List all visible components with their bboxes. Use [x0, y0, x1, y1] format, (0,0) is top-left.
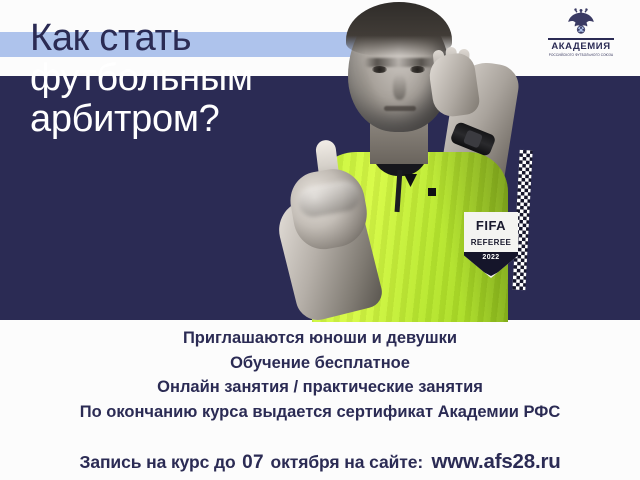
body-copy: Приглашаются юноши и девушки Обучение бе…	[0, 326, 640, 424]
body-line-2: Обучение бесплатное	[0, 351, 640, 376]
academy-logo: АКАДЕМИЯ РОССИЙСКОГО ФУТБОЛЬНОГО СОЮЗА	[539, 6, 623, 57]
body-line-1: Приглашаются юноши и девушки	[0, 326, 640, 351]
logo-subtitle: РОССИЙСКОГО ФУТБОЛЬНОГО СОЮЗА	[539, 53, 623, 57]
footer-prefix: Запись на курс до	[79, 452, 235, 472]
headline: Как стать футбольным арбитром?	[30, 18, 460, 139]
footer-website-url[interactable]: www.afs28.ru	[428, 450, 561, 473]
logo-name: АКАДЕМИЯ	[539, 42, 623, 52]
body-line-3: Онлайн занятия / практические занятия	[0, 375, 640, 400]
logo-divider	[548, 38, 614, 40]
footer-deadline-day: 07	[240, 452, 266, 473]
double-headed-eagle-icon	[564, 6, 598, 36]
poster-root: FIFA REFEREE 2022 Как стать футбольным а…	[0, 0, 640, 480]
headline-line-2: футбольным	[30, 58, 460, 98]
footer-middle: октября на сайте:	[270, 452, 423, 472]
fifa-badge-role: REFEREE	[471, 239, 512, 247]
headline-line-3: арбитром?	[30, 99, 460, 139]
fifa-badge-title: FIFA	[476, 219, 506, 232]
referee-chest-mark-b	[428, 188, 436, 196]
footer: Запись на курс до 07 октября на сайте: w…	[0, 450, 640, 474]
body-line-4: По окончанию курса выдается сертификат А…	[0, 400, 640, 425]
headline-line-1: Как стать	[30, 18, 460, 58]
